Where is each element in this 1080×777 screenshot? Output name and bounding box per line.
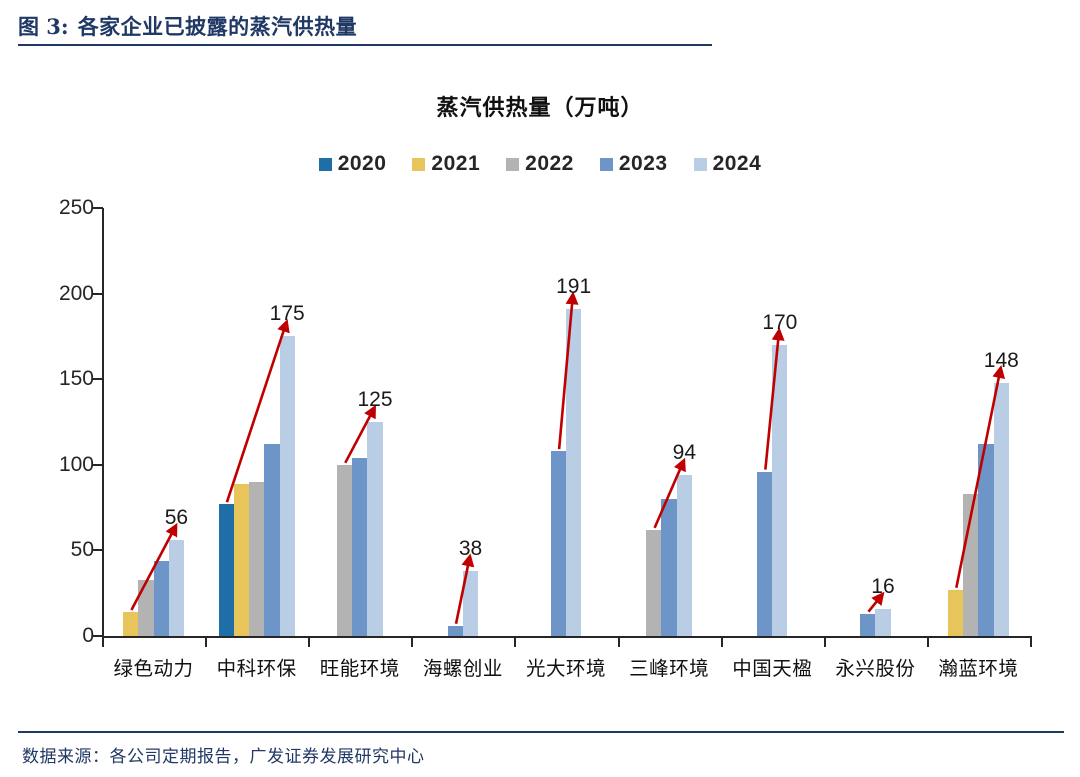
x-tick-mark [721, 636, 723, 647]
bar-group [514, 208, 617, 636]
x-label-中国天楹: 中国天楹 [732, 652, 812, 681]
figure-page: 图 3: 各家企业已披露的蒸汽供热量 蒸汽供热量（万吨） 20202021202… [0, 0, 1080, 777]
plot-area: 050100150200250 绿色动力中科环保旺能环境海螺创业光大环境三峰环境… [0, 196, 1080, 666]
bar-group [308, 208, 411, 636]
bar-海螺创业-2023[interactable] [448, 626, 463, 636]
x-tick-mark [514, 636, 516, 647]
y-tick-label: 150 [59, 367, 94, 391]
x-tick-mark [1030, 636, 1032, 647]
legend-item-2022[interactable]: 2022 [506, 152, 574, 176]
x-label-旺能环境: 旺能环境 [320, 652, 400, 681]
y-tick-label: 200 [59, 282, 94, 306]
bar-海螺创业-2024[interactable] [463, 571, 478, 636]
x-tick-mark [824, 636, 826, 647]
bar-绿色动力-2021[interactable] [123, 612, 138, 636]
x-tick-mark [618, 636, 620, 647]
chart-legend: 20202021202220232024 [0, 152, 1080, 176]
legend-swatch-icon [319, 158, 332, 171]
bar-group [721, 208, 824, 636]
legend-item-2024[interactable]: 2024 [694, 152, 762, 176]
bar-value-label: 125 [358, 388, 393, 412]
x-label-光大环境: 光大环境 [526, 652, 606, 681]
bar-group [102, 208, 205, 636]
bar-旺能环境-2022[interactable] [337, 465, 352, 636]
x-label-三峰环境: 三峰环境 [629, 652, 709, 681]
legend-label: 2024 [713, 152, 762, 176]
bar-瀚蓝环境-2021[interactable] [948, 590, 963, 636]
bar-中科环保-2020[interactable] [219, 504, 234, 636]
bar-旺能环境-2023[interactable] [352, 458, 367, 636]
footer-divider [18, 731, 1064, 733]
bar-value-label: 38 [459, 537, 482, 561]
legend-item-2021[interactable]: 2021 [412, 152, 480, 176]
x-axis-line [102, 636, 1030, 638]
y-tick-label: 50 [71, 538, 94, 562]
x-label-永兴股份: 永兴股份 [835, 652, 915, 681]
bar-group [824, 208, 927, 636]
legend-swatch-icon [600, 158, 613, 171]
bars-container [102, 208, 1030, 636]
bar-旺能环境-2024[interactable] [367, 422, 382, 636]
bar-三峰环境-2023[interactable] [661, 499, 676, 636]
figure-number: 图 3: [18, 11, 69, 41]
figure-title: 各家企业已披露的蒸汽供热量 [78, 11, 358, 41]
bar-三峰环境-2024[interactable] [677, 475, 692, 636]
y-tick-label: 250 [59, 196, 94, 220]
bar-绿色动力-2022[interactable] [138, 580, 153, 636]
bar-value-label: 175 [270, 302, 305, 326]
legend-item-2020[interactable]: 2020 [319, 152, 387, 176]
bar-value-label: 56 [165, 506, 188, 530]
x-tick-mark [308, 636, 310, 647]
header-divider [18, 44, 712, 46]
bar-光大环境-2023[interactable] [551, 451, 566, 636]
bar-瀚蓝环境-2023[interactable] [978, 444, 993, 636]
legend-item-2023[interactable]: 2023 [600, 152, 668, 176]
bar-group [927, 208, 1030, 636]
x-tick-mark [927, 636, 929, 647]
bar-group [618, 208, 721, 636]
x-label-绿色动力: 绿色动力 [114, 652, 194, 681]
bar-瀚蓝环境-2022[interactable] [963, 494, 978, 636]
bar-group [205, 208, 308, 636]
bar-value-label: 148 [984, 349, 1019, 373]
legend-swatch-icon [506, 158, 519, 171]
chart-title: 蒸汽供热量（万吨） [0, 90, 1080, 122]
y-axis-tick-labels: 050100150200250 [44, 196, 94, 636]
legend-label: 2022 [525, 152, 574, 176]
bar-中国天楹-2024[interactable] [772, 345, 787, 636]
bar-瀚蓝环境-2024[interactable] [994, 383, 1009, 636]
bar-value-label: 16 [871, 575, 894, 599]
x-label-中科环保: 中科环保 [217, 652, 297, 681]
x-tick-mark [411, 636, 413, 647]
bar-三峰环境-2022[interactable] [646, 530, 661, 636]
bar-value-label: 94 [673, 441, 696, 465]
x-label-海螺创业: 海螺创业 [423, 652, 503, 681]
x-tick-mark [102, 636, 104, 647]
legend-label: 2023 [619, 152, 668, 176]
legend-label: 2021 [431, 152, 480, 176]
y-tick-label: 100 [59, 453, 94, 477]
bar-光大环境-2024[interactable] [566, 309, 581, 636]
bar-中科环保-2023[interactable] [264, 444, 279, 636]
bar-value-label: 191 [556, 275, 591, 299]
bar-中科环保-2021[interactable] [234, 484, 249, 636]
bar-永兴股份-2023[interactable] [860, 614, 875, 636]
bar-绿色动力-2024[interactable] [169, 540, 184, 636]
bar-永兴股份-2024[interactable] [875, 609, 890, 636]
bar-中科环保-2022[interactable] [249, 482, 264, 636]
x-tick-mark [205, 636, 207, 647]
source-note: 数据来源：各公司定期报告，广发证券发展研究中心 [22, 742, 425, 767]
figure-header: 图 3: 各家企业已披露的蒸汽供热量 [18, 6, 708, 44]
legend-swatch-icon [694, 158, 707, 171]
bar-中国天楹-2023[interactable] [757, 472, 772, 636]
bar-中科环保-2024[interactable] [280, 336, 295, 636]
x-axis-category-labels: 绿色动力中科环保旺能环境海螺创业光大环境三峰环境中国天楹永兴股份瀚蓝环境 [102, 648, 1030, 694]
bar-group [411, 208, 514, 636]
bar-value-label: 170 [762, 311, 797, 335]
x-label-瀚蓝环境: 瀚蓝环境 [938, 652, 1018, 681]
legend-swatch-icon [412, 158, 425, 171]
legend-label: 2020 [338, 152, 387, 176]
bar-绿色动力-2023[interactable] [154, 561, 169, 636]
